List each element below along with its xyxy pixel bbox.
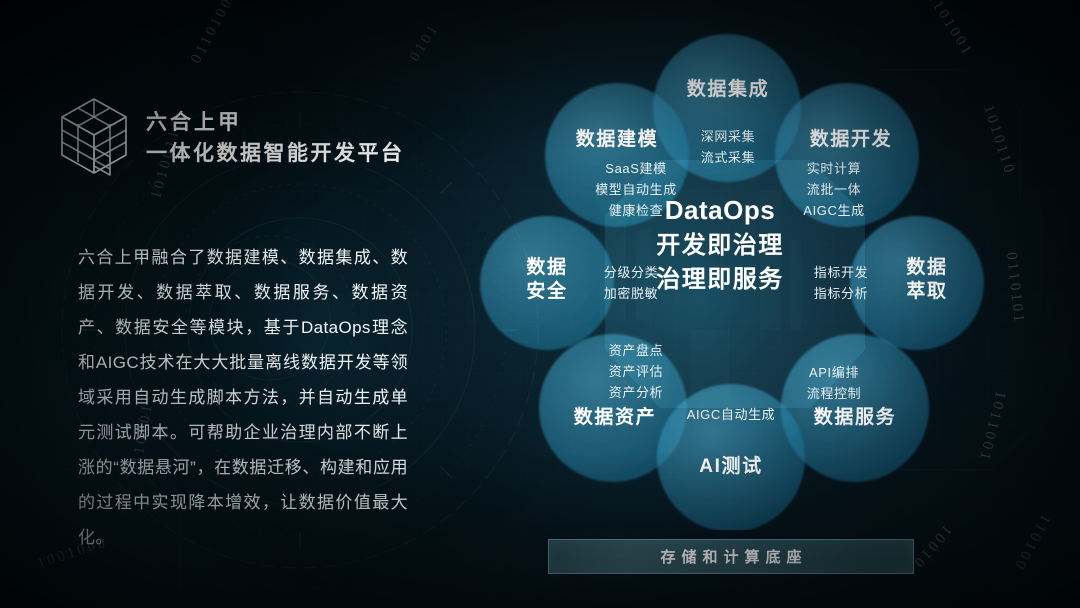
vignette-overlay <box>0 0 1080 608</box>
slide-canvas: 0110100101101001100110101100100001101001… <box>0 0 1080 608</box>
